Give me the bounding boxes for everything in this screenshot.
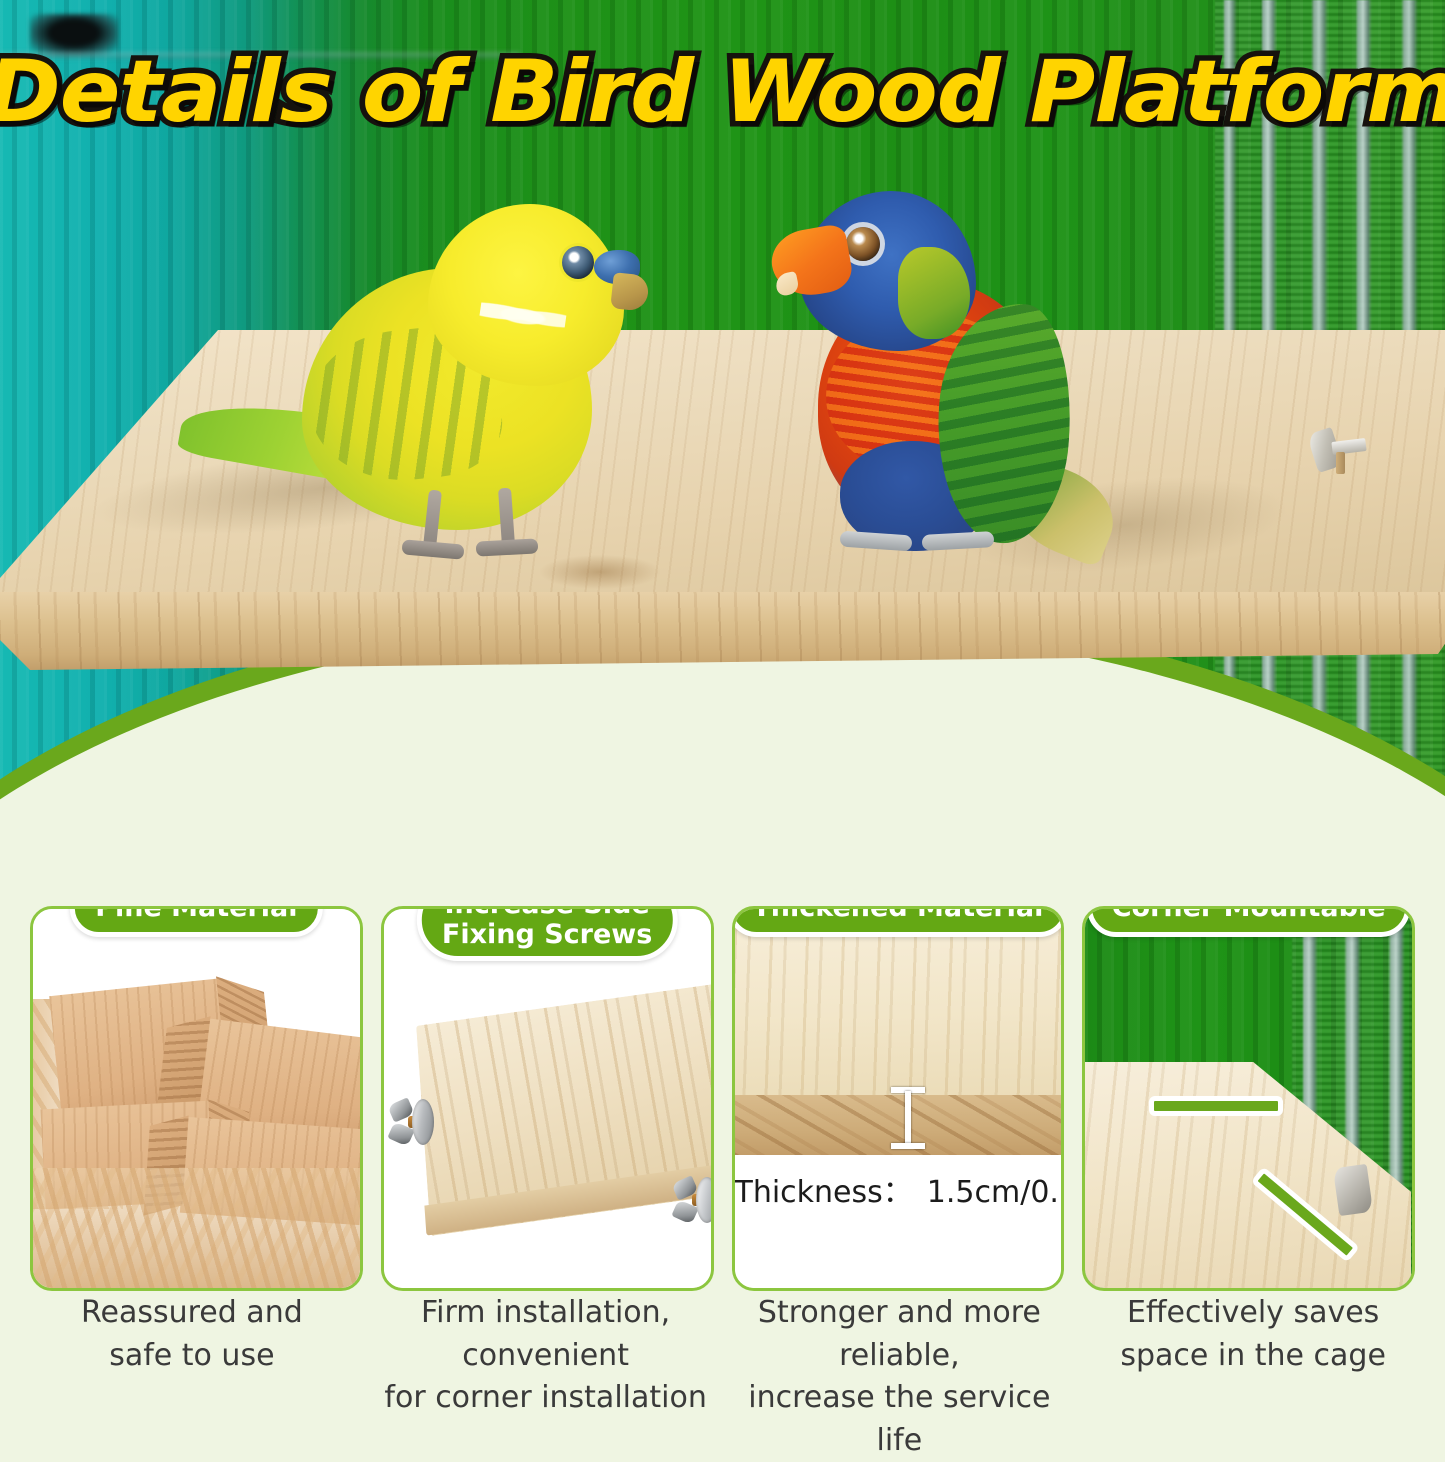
lorikeet-foot-right	[922, 531, 995, 551]
feature-label-line-1: Increase Side	[442, 906, 652, 920]
platform-front-edge	[0, 592, 1445, 670]
wing-nut-screw-right	[684, 1177, 714, 1223]
caption-line-1: Firm installation, convenient	[378, 1292, 714, 1377]
feature-card-pine-material[interactable]: Pine Material	[30, 906, 363, 1291]
page-title: Details of Bird Wood Platform	[0, 42, 1445, 142]
corner-mount-bracket	[1333, 1164, 1373, 1216]
budgerigar-bird	[180, 190, 650, 560]
wing-nut-screw-left	[400, 1099, 446, 1145]
caption-pine-material: Reassured and safe to use	[24, 1292, 360, 1462]
caption-line-2: increase the service life	[732, 1377, 1068, 1462]
budgie-eye	[562, 246, 594, 279]
wood-knot	[540, 555, 660, 589]
feature-label-corner-mountable: Corner Mountable	[1087, 906, 1411, 937]
budgie-foot-right	[476, 538, 539, 556]
feature-card-side-fixing-screws[interactable]: Increase Side Fixing Screws	[381, 906, 714, 1291]
board-top-face	[735, 909, 1062, 1097]
side-screws-media	[384, 909, 711, 1288]
feature-card-row: Pine Material Increase Side Fixing Screw…	[0, 878, 1445, 1298]
rainbow-lorikeet-bird	[770, 185, 1100, 565]
caption-side-fixing-screws: Firm installation, convenient for corner…	[378, 1292, 714, 1462]
thickness-label: Thickness：	[735, 1175, 913, 1210]
corner-mount-media	[1085, 909, 1412, 1288]
thickness-measurement-text: Thickness：1.5cm/0.6in	[735, 1167, 1062, 1211]
caption-line-1: Effectively saves	[1085, 1292, 1421, 1335]
thickness-media: Thickness：1.5cm/0.6in	[735, 909, 1062, 1288]
budgie-foot-left	[401, 539, 464, 559]
budgie-beak	[610, 272, 650, 312]
pine-blocks-media	[33, 909, 360, 1288]
side-fixing-screw-bracket	[1308, 428, 1368, 476]
wood-shavings-bottom	[33, 1168, 360, 1288]
feature-caption-row: Reassured and safe to use Firm installat…	[0, 1292, 1445, 1462]
feature-card-thickened-material[interactable]: Thickness：1.5cm/0.6in Thickened Material	[732, 906, 1065, 1291]
thickness-value: 1.5cm/0.6in	[927, 1175, 1064, 1210]
caption-line-2: for corner installation	[378, 1377, 714, 1420]
caption-line-2: space in the cage	[1085, 1335, 1421, 1378]
feature-label-line-2: Fixing Screws	[442, 920, 652, 950]
caption-corner-mountable: Effectively saves space in the cage	[1085, 1292, 1421, 1462]
feature-label-thickened-material: Thickened Material	[732, 906, 1065, 937]
feature-card-corner-mountable[interactable]: Corner Mountable	[1082, 906, 1415, 1291]
measurement-ibeam-icon	[891, 1087, 925, 1149]
bracket-stem	[1336, 452, 1345, 474]
caption-line-2: safe to use	[24, 1335, 360, 1378]
caption-line-1: Reassured and	[24, 1292, 360, 1335]
corner-indicator-horizontal	[1149, 1096, 1283, 1116]
lorikeet-eye	[846, 227, 880, 261]
budgie-head	[428, 204, 624, 386]
caption-line-1: Stronger and more reliable,	[732, 1292, 1068, 1377]
feature-label-side-fixing-screws: Increase Side Fixing Screws	[417, 906, 677, 961]
feature-label-pine-material: Pine Material	[70, 906, 322, 937]
caption-thickened-material: Stronger and more reliable, increase the…	[732, 1292, 1068, 1462]
